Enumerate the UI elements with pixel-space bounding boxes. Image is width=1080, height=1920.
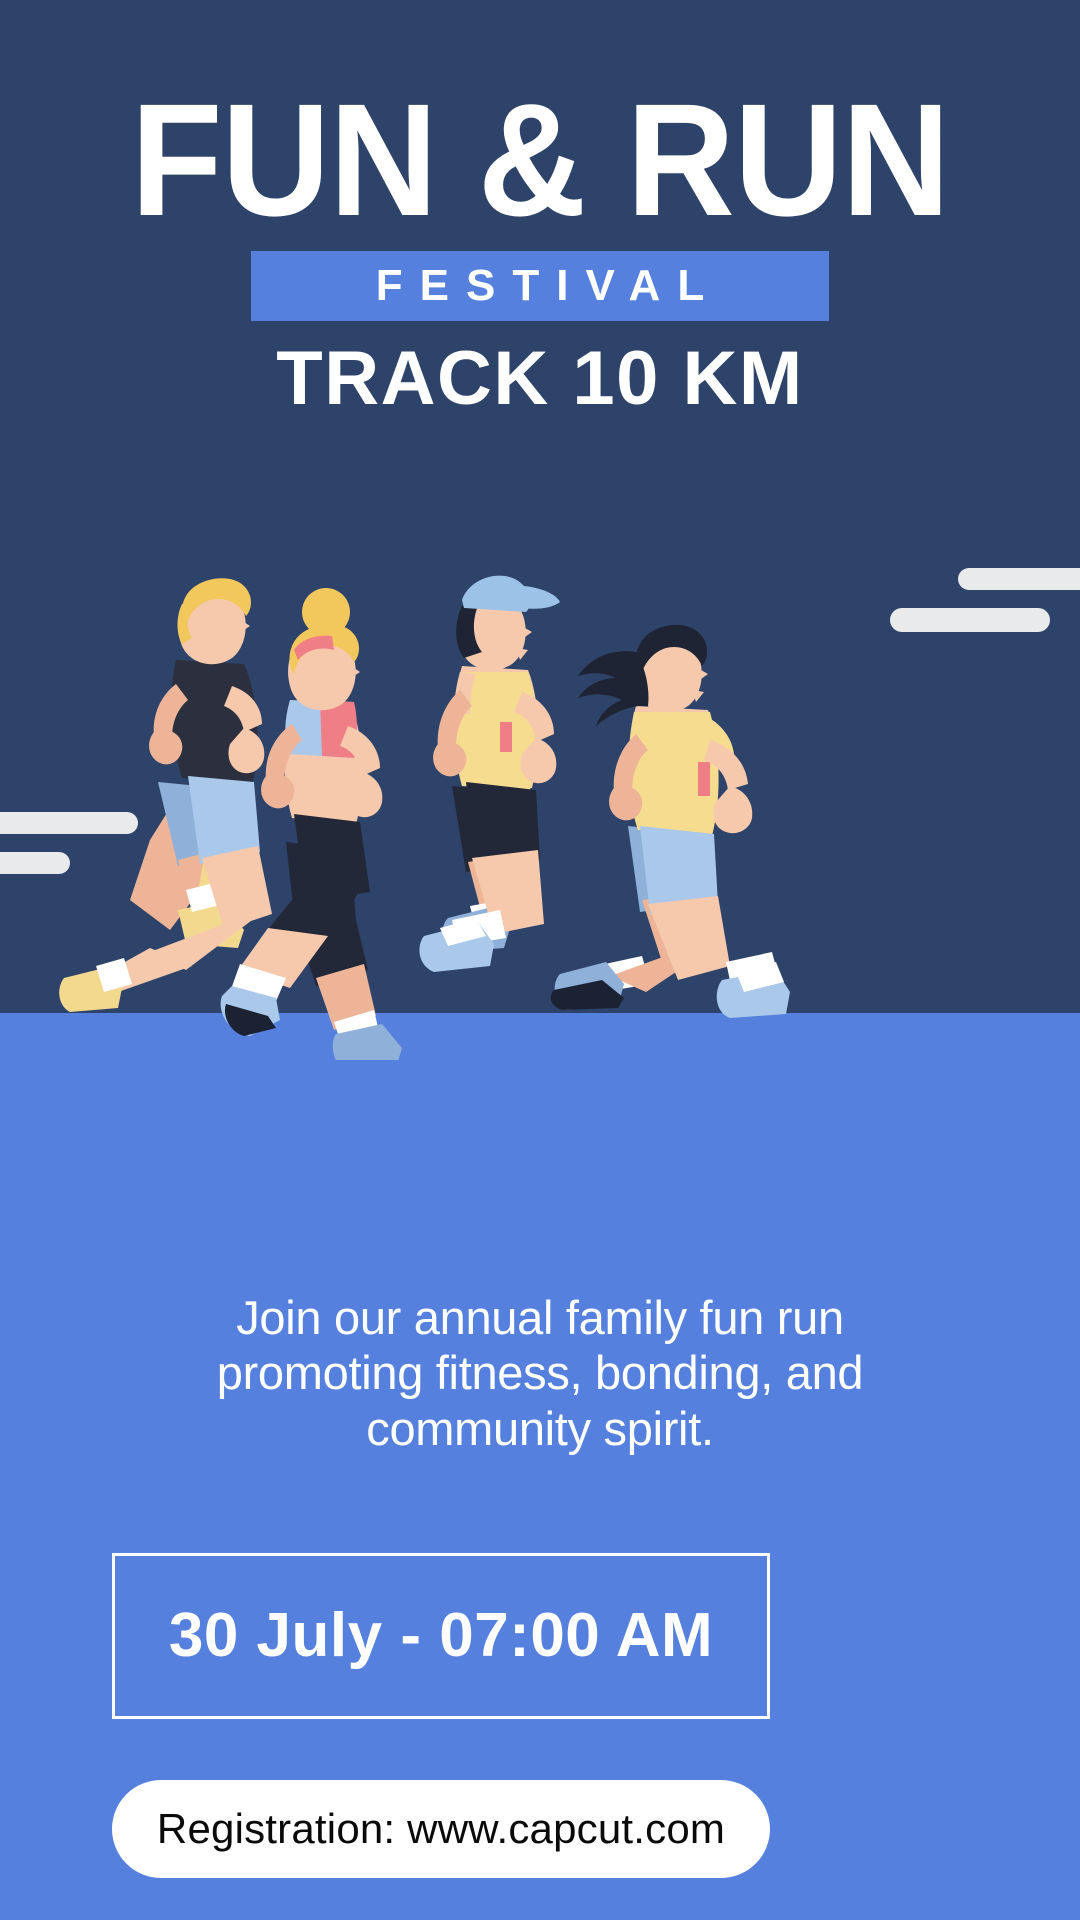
date-time-box: 30 July - 07:00 AM xyxy=(112,1553,770,1719)
date-time-label: 30 July - 07:00 AM xyxy=(169,1605,713,1667)
runners-svg: .sk{fill:#F6C9AD}.sk2{fill:#EDB498}.hb{f… xyxy=(0,500,1080,1060)
festival-label: FESTIVAL xyxy=(359,264,721,308)
registration-button[interactable]: Registration: www.capcut.com xyxy=(112,1780,770,1878)
title-block: FUN & RUN FESTIVAL TRACK 10 KM xyxy=(0,0,1080,421)
runner-4 xyxy=(551,625,790,1018)
description-text: Join our annual family fun run promoting… xyxy=(160,1290,920,1456)
runner-1 xyxy=(59,578,272,1012)
registration-label: Registration: www.capcut.com xyxy=(157,1808,725,1850)
poster-title: FUN & RUN xyxy=(32,86,1047,233)
poster-canvas: FUN & RUN FESTIVAL TRACK 10 KM .sk{fill:… xyxy=(0,0,1080,1920)
four-runners-illustration: .sk{fill:#F6C9AD}.sk2{fill:#EDB498}.hb{f… xyxy=(0,500,1080,1060)
festival-band: FESTIVAL xyxy=(251,251,829,321)
runner-3 xyxy=(419,576,560,972)
poster-subtitle: TRACK 10 KM xyxy=(0,337,1080,421)
